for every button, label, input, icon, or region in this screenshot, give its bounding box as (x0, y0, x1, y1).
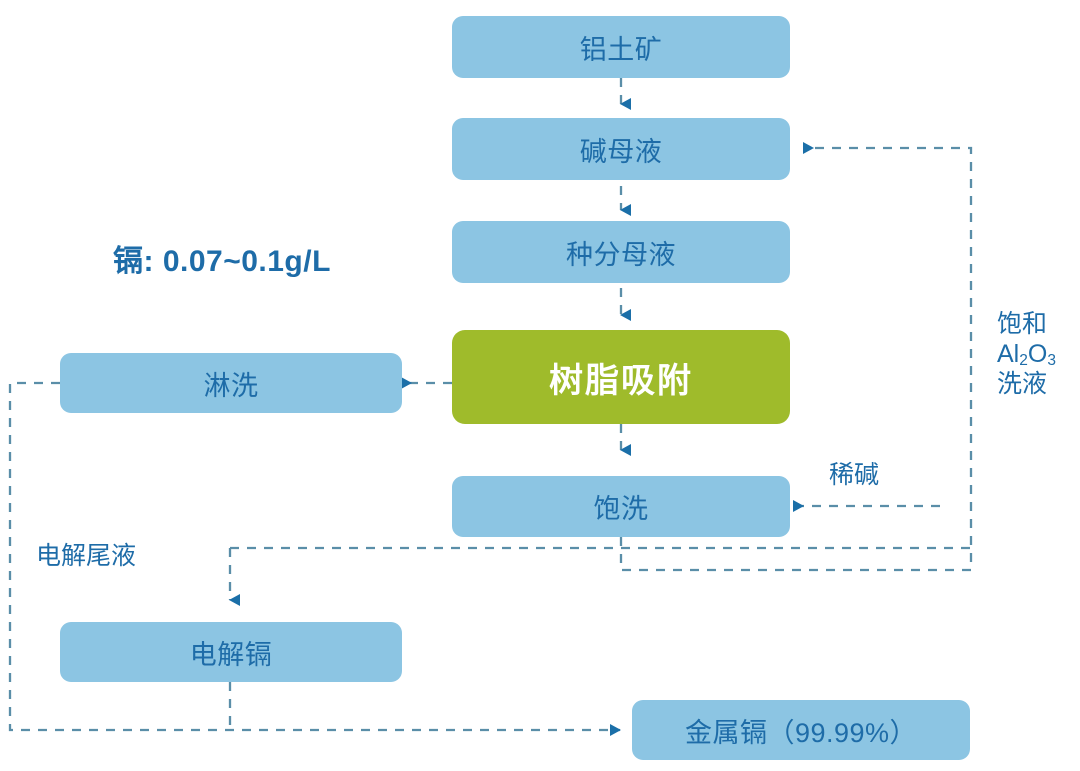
node-resin-adsorption[interactable]: 树脂吸附 (452, 330, 790, 424)
formula-al-subscript: 2 (1019, 351, 1028, 368)
node-metal-gallium[interactable]: 金属镉（99.99%） (632, 700, 970, 760)
node-electrolysis[interactable]: 电解镉 (60, 622, 402, 682)
saturated-wash-line-1: 饱和 (997, 310, 1077, 340)
saturated-wash-line-3: 洗液 (997, 370, 1077, 400)
formula-al: Al (997, 340, 1019, 368)
node-seed-liquor-label: 种分母液 (566, 233, 676, 272)
node-saturated-wash-label: 饱洗 (594, 487, 649, 526)
gallium-concentration-callout: 镉: 0.07~0.1g/L (113, 236, 331, 280)
node-bauxite[interactable]: 铝土矿 (452, 16, 790, 78)
node-seed-liquor[interactable]: 种分母液 (452, 221, 790, 283)
formula-o: O (1028, 340, 1047, 368)
node-bauxite-label: 铝土矿 (580, 28, 663, 67)
node-elution[interactable]: 淋洗 (60, 353, 402, 413)
formula-o-subscript: 3 (1047, 351, 1056, 368)
node-alkali-liquor[interactable]: 碱母液 (452, 118, 790, 180)
electrolysis-tail-liquor-text: 电解尾液 (36, 542, 136, 570)
node-metal-gallium-label: 金属镉（99.99%） (685, 711, 917, 750)
saturated-wash-line-2: Al2O3 (997, 340, 1077, 370)
node-resin-adsorption-label: 树脂吸附 (549, 353, 693, 402)
dilute-alkali-label: 稀碱 (829, 461, 879, 491)
process-flow-diagram: 铝土矿 碱母液 种分母液 树脂吸附 饱洗 淋洗 电解镉 金属镉（99.99%） … (0, 0, 1080, 771)
saturated-al2o3-wash-label: 饱和 Al2O3 洗液 (997, 310, 1077, 399)
node-saturated-wash[interactable]: 饱洗 (452, 476, 790, 537)
dilute-alkali-text: 稀碱 (829, 461, 879, 489)
gallium-concentration-text: 镉: 0.07~0.1g/L (113, 245, 331, 278)
electrolysis-tail-liquor-label: 电解尾液 (36, 542, 136, 572)
node-electrolysis-label: 电解镉 (190, 633, 273, 672)
node-elution-label: 淋洗 (204, 364, 259, 403)
node-alkali-liquor-label: 碱母液 (580, 130, 663, 169)
